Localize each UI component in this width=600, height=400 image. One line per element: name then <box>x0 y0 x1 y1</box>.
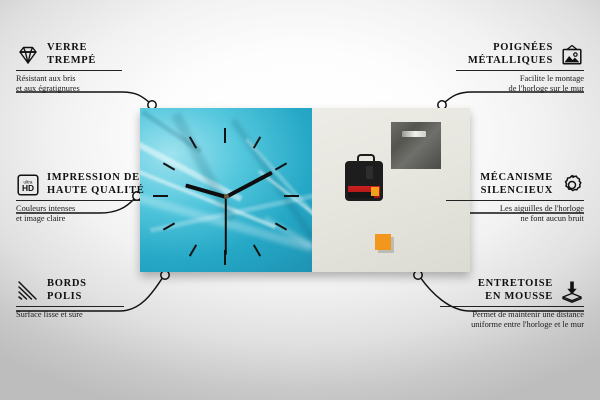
hanger-slot <box>402 131 426 137</box>
feature-sub-2: uniforme entre l'horloge et le mur <box>440 320 584 330</box>
diamond-icon <box>16 43 40 67</box>
feature-sub-1: Résistant aux bris <box>16 74 144 84</box>
wire-dot-entretoise <box>414 271 422 279</box>
feature-sub-1: Couleurs intenses <box>16 204 156 214</box>
feature-title-2: HAUTE QUALITÉ <box>47 185 145 198</box>
divider <box>16 70 122 71</box>
feature-title: VERRE <box>47 42 96 55</box>
feature-verre-trempe: VERRE TREMPÉ Résistant aux bris et aux é… <box>16 42 144 95</box>
clock-marker <box>253 244 261 256</box>
feature-sub-1: Surface lisse et sûre <box>16 310 136 320</box>
feature-bords-polis: BORDS POLIS Surface lisse et sûre <box>16 278 136 320</box>
clock-centre-cap <box>224 194 229 199</box>
clock-minute-hand <box>225 171 273 199</box>
feature-sub-2: de l'horloge sur le mur <box>456 84 584 94</box>
clock-marker <box>224 128 226 143</box>
clock-marker <box>253 136 261 148</box>
feature-title: BORDS <box>47 278 87 291</box>
feature-title: ENTRETOISE <box>478 278 553 291</box>
ultra-hd-badge-icon: ultra HD <box>16 173 40 197</box>
clock-marker <box>284 195 299 197</box>
feature-title-2: SILENCIEUX <box>480 185 553 198</box>
feature-title-2: POLIS <box>47 291 87 304</box>
polished-edge-icon <box>16 279 40 303</box>
gear-icon <box>560 173 584 197</box>
feature-title: POIGNÉES <box>468 42 553 55</box>
feature-sub-1: Les aiguilles de l'horloge <box>446 204 584 214</box>
clock-marker <box>275 162 287 170</box>
feature-title: IMPRESSION DE <box>47 172 145 185</box>
battery-plus-terminal <box>371 187 379 196</box>
battery <box>348 186 380 198</box>
foam-spacer-icon <box>560 279 584 303</box>
clock-mechanism <box>345 161 383 201</box>
wire-dot-bords-polis <box>161 271 169 279</box>
feature-sub-2: et image claire <box>16 214 156 224</box>
divider <box>456 70 584 71</box>
feature-sub-1: Permet de maintenir une distance <box>440 310 584 320</box>
badge-large-text: HD <box>22 183 34 193</box>
wall-clock-face <box>140 108 314 272</box>
feature-impression-hd: ultra HD IMPRESSION DE HAUTE QUALITÉ Cou… <box>16 172 156 225</box>
mechanism-hook <box>357 154 375 165</box>
feature-entretoise-en-mousse: ENTRETOISE EN MOUSSE Permet de maintenir… <box>440 278 584 331</box>
feature-sub-2: ne font aucun bruit <box>446 214 584 224</box>
divider <box>446 200 584 201</box>
product-photo <box>140 108 470 272</box>
feature-title-2: EN MOUSSE <box>478 291 553 304</box>
picture-hanger-icon <box>560 43 584 67</box>
feature-sub-2: et aux égratignures <box>16 84 144 94</box>
metal-hanging-plate <box>391 122 441 169</box>
divider <box>440 306 584 307</box>
feature-title-2: TREMPÉ <box>47 55 96 68</box>
divider <box>16 200 140 201</box>
feature-poignees-metalliques: POIGNÉES MÉTALLIQUES Facilite le montage… <box>456 42 584 95</box>
clock-second-hand <box>225 197 227 255</box>
divider <box>16 306 124 307</box>
foam-spacer <box>375 234 391 250</box>
mechanism-shaft <box>366 166 373 179</box>
infographic-canvas: VERRE TREMPÉ Résistant aux bris et aux é… <box>0 0 600 400</box>
feature-sub-1: Facilite le montage <box>456 74 584 84</box>
feature-title-2: MÉTALLIQUES <box>468 55 553 68</box>
feature-mecanisme-silencieux: MÉCANISME SILENCIEUX Les aiguilles de l'… <box>446 172 584 225</box>
feature-title: MÉCANISME <box>480 172 553 185</box>
clock-marker <box>189 244 197 256</box>
